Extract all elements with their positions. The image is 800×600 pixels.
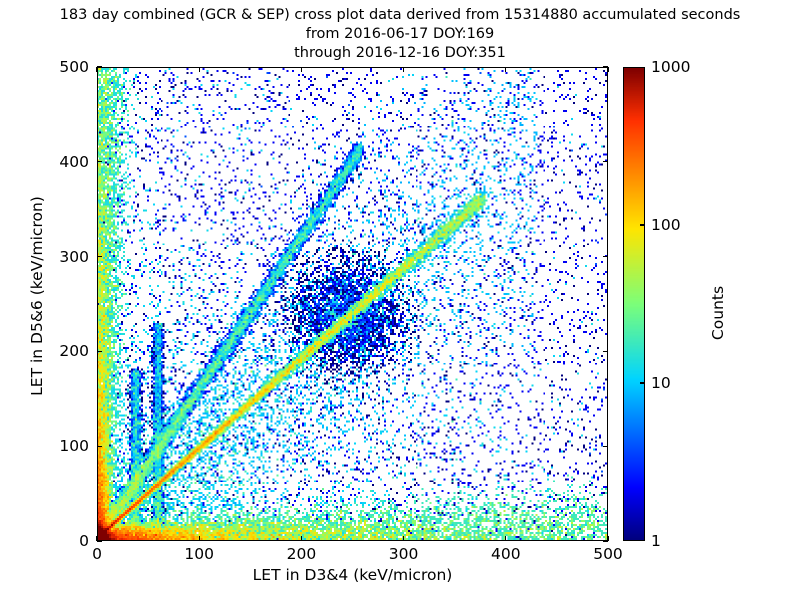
x-tick-mark [505,536,506,541]
x-tick-label: 100 [184,545,214,563]
colorbar-wrap [623,67,645,541]
y-tick-mark-right [603,161,608,162]
x-tick-mark-top [403,67,404,72]
y-tick-label: 100 [1,437,89,455]
y-tick-mark-right [603,446,608,447]
colorbar-tick-label: 100 [651,216,681,234]
colorbar-label: Counts [709,223,727,403]
colorbar-tick-mark [640,224,645,225]
x-tick-mark-top [199,67,200,72]
x-tick-label: 500 [593,545,623,563]
colorbar-tick-label: 1 [651,532,661,550]
x-tick-label: 0 [92,545,102,563]
x-tick-mark [199,536,200,541]
colorbar-gradient [624,68,644,540]
x-tick-label: 200 [287,545,317,563]
y-tick-mark-right [603,351,608,352]
x-tick-mark-top [301,67,302,72]
figure-canvas: 183 day combined (GCR & SEP) cross plot … [0,0,800,600]
colorbar[interactable] [623,67,645,541]
title-line-1: 183 day combined (GCR & SEP) cross plot … [0,6,800,25]
x-axis-label: LET in D3&4 (keV/micron) [97,566,608,584]
y-tick-label: 500 [1,58,89,76]
colorbar-tick-mark [640,382,645,383]
colorbar-tick-label: 10 [651,374,671,392]
x-tick-mark-top [505,67,506,72]
x-tick-mark-top [96,67,97,72]
y-tick-mark-right [603,66,608,67]
y-tick-label: 400 [1,153,89,171]
x-tick-label: 400 [491,545,521,563]
y-axis-label: LET in D5&6 (keV/micron) [28,186,46,406]
y-tick-label: 0 [1,532,89,550]
y-tick-mark [97,446,102,447]
y-tick-mark [97,161,102,162]
x-tick-mark [403,536,404,541]
y-tick-mark [97,66,102,67]
x-tick-label: 300 [389,545,419,563]
histogram-2d-canvas [98,68,607,540]
y-tick-mark [97,540,102,541]
x-tick-mark [301,536,302,541]
x-tick-mark-top [607,67,608,72]
y-tick-mark-right [603,540,608,541]
plot-area[interactable] [97,67,608,541]
title-line-2: from 2016-06-17 DOY:169 [0,25,800,44]
y-tick-mark [97,351,102,352]
chart-title: 183 day combined (GCR & SEP) cross plot … [0,6,800,63]
colorbar-tick-label: 1000 [651,58,690,76]
y-tick-mark [97,256,102,257]
y-tick-mark-right [603,256,608,257]
